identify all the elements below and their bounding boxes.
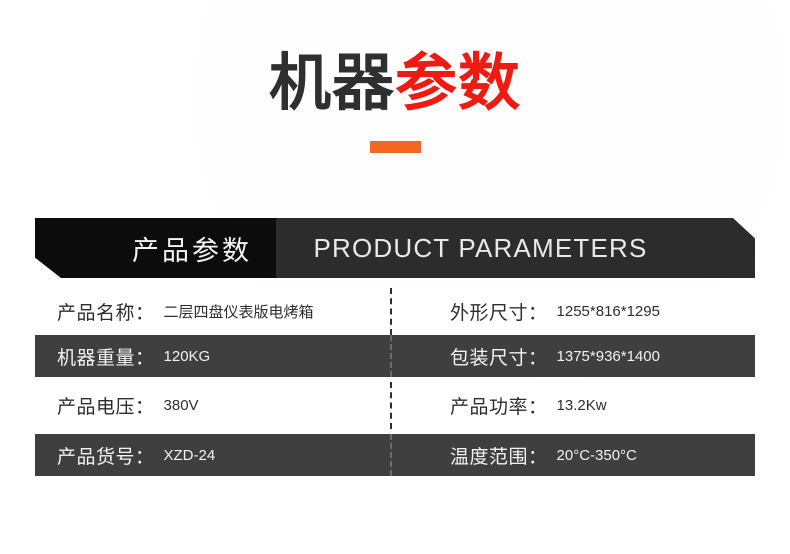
parameter-value: 二层四盘仪表版电烤箱 (164, 301, 314, 322)
parameter-key: 产品名称： (57, 298, 155, 325)
parameter-key: 机器重量： (57, 343, 155, 370)
table-cell-right: 温度范围： 20°C-350°C (390, 434, 755, 476)
table-header: 产品参数 PRODUCT PARAMETERS (35, 218, 755, 278)
parameter-key: 产品货号： (57, 442, 155, 469)
table-cell-left: 产品电压： 380V (35, 382, 390, 429)
parameter-key: 温度范围： (450, 442, 548, 469)
column-divider (390, 434, 392, 476)
page-title-primary: 机器 (269, 49, 395, 118)
table-cell-left: 产品货号： XZD-24 (35, 434, 390, 476)
parameter-value: 120KG (164, 348, 211, 365)
parameter-key: 产品功率： (450, 392, 548, 419)
column-divider (390, 335, 392, 377)
parameter-value: 20°C-350°C (557, 447, 637, 464)
product-parameters-table: 产品参数 PRODUCT PARAMETERS 产品名称： 二层四盘仪表版电烤箱… (35, 218, 755, 476)
table-cell-right: 产品功率： 13.2Kw (390, 382, 755, 429)
parameter-value: 380V (164, 397, 199, 414)
table-row: 产品名称： 二层四盘仪表版电烤箱 外形尺寸： 1255*816*1295 (35, 288, 755, 335)
parameter-value: 1255*816*1295 (557, 303, 660, 320)
title-underline-bar (370, 141, 421, 153)
parameter-key: 包装尺寸： (450, 343, 548, 370)
table-cell-right: 外形尺寸： 1255*816*1295 (390, 288, 755, 335)
table-row: 产品电压： 380V 产品功率： 13.2Kw (35, 382, 755, 429)
parameter-value: XZD-24 (164, 447, 216, 464)
column-divider (390, 288, 392, 335)
table-header-english-label: PRODUCT PARAMETERS (313, 233, 717, 264)
page-title-accent: 参数 (395, 49, 521, 118)
parameter-key: 外形尺寸： (450, 298, 548, 325)
table-row: 产品货号： XZD-24 温度范围： 20°C-350°C (35, 434, 755, 476)
table-row: 机器重量： 120KG 包装尺寸： 1375*936*1400 (35, 335, 755, 377)
table-cell-left: 机器重量： 120KG (35, 335, 390, 377)
column-divider (390, 382, 392, 429)
table-cell-right: 包装尺寸： 1375*936*1400 (390, 335, 755, 377)
table-header-chinese-label: 产品参数 (132, 229, 252, 268)
table-cell-left: 产品名称： 二层四盘仪表版电烤箱 (35, 288, 390, 335)
table-header-chinese: 产品参数 (35, 218, 276, 278)
parameter-value: 1375*936*1400 (557, 348, 660, 365)
parameter-key: 产品电压： (57, 392, 155, 419)
page-title: 机器参数 (0, 48, 790, 120)
table-header-english: PRODUCT PARAMETERS (276, 218, 755, 278)
page-title-text: 机器参数 (0, 48, 790, 120)
parameter-value: 13.2Kw (557, 397, 607, 414)
